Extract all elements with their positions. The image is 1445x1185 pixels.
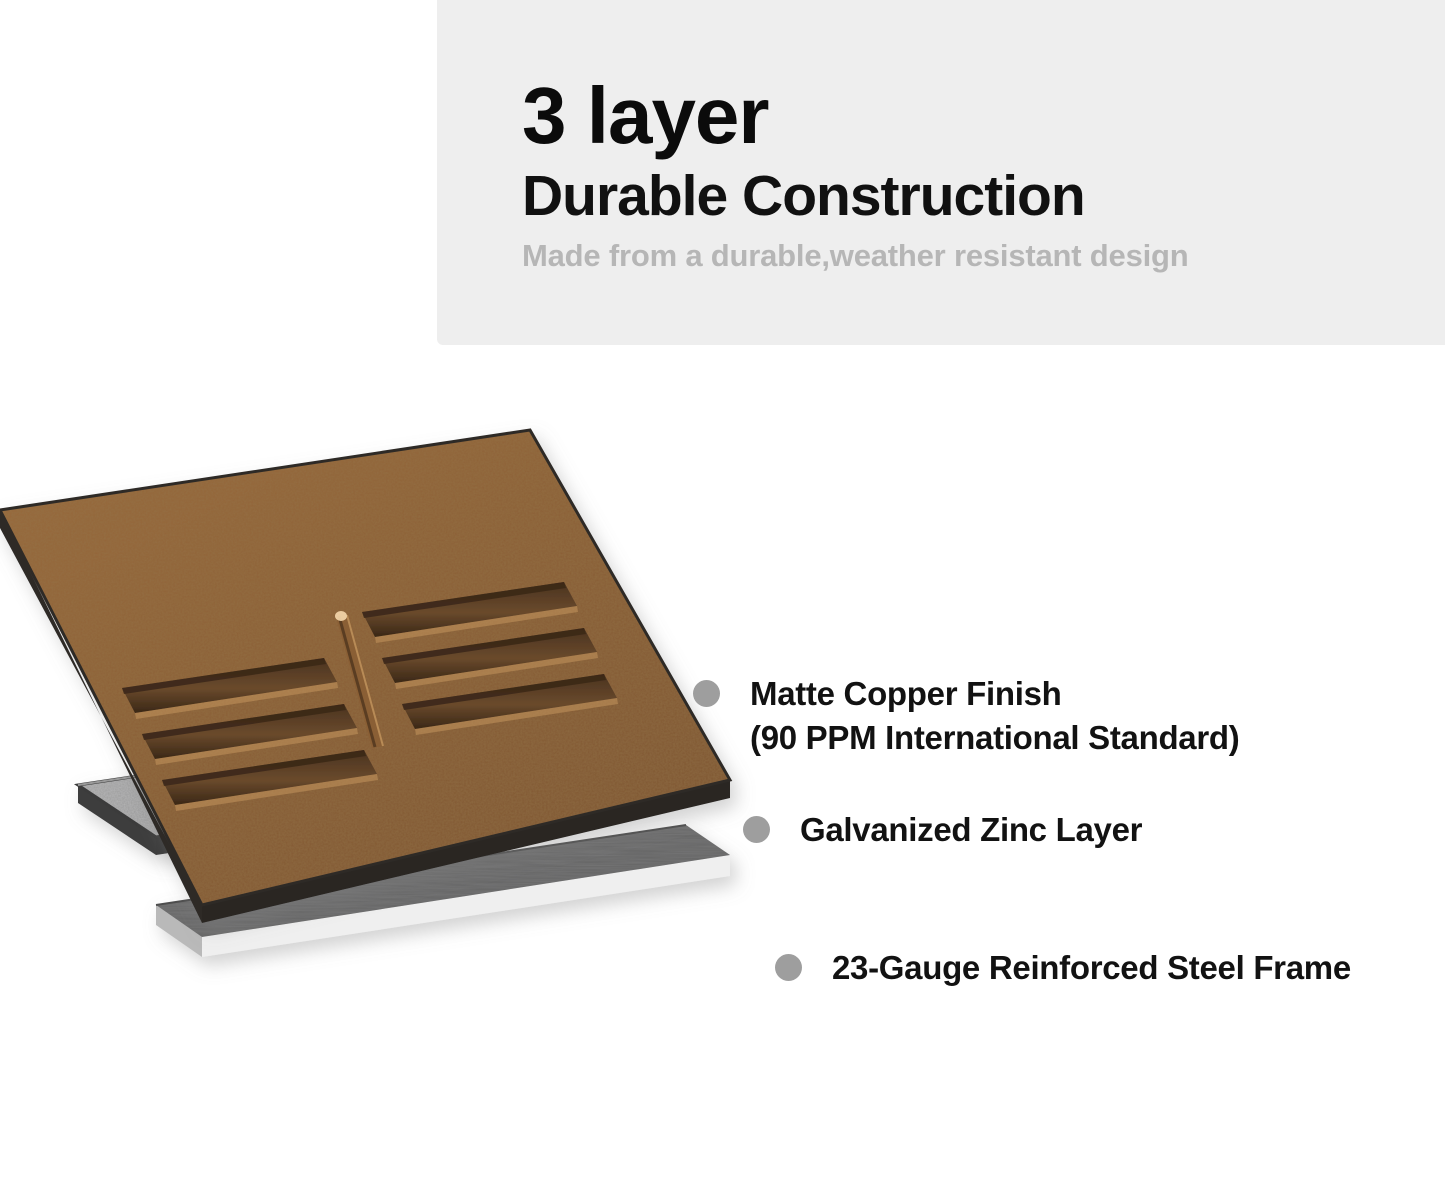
bullet-dot-icon [693,680,720,707]
header-panel: 3 layer Durable Construction Made from a… [437,0,1445,345]
layer-stack-svg [0,400,790,1180]
exploded-layer-illustration [0,400,790,1180]
bullet-dot-icon [775,954,802,981]
page-subtitle: Durable Construction [437,168,1317,225]
callout-copper: Matte Copper Finish (90 PPM Internationa… [693,672,1239,760]
page-title: 3 layer [437,78,1317,154]
callout-label: Galvanized Zinc Layer [800,808,1142,852]
bullet-dot-icon [743,816,770,843]
page-tagline: Made from a durable,weather resistant de… [437,239,1317,273]
callout-steel: 23-Gauge Reinforced Steel Frame [775,946,1351,990]
callout-zinc: Galvanized Zinc Layer [743,808,1142,852]
callout-label: Matte Copper Finish (90 PPM Internationa… [750,672,1239,760]
callout-label: 23-Gauge Reinforced Steel Frame [832,946,1351,990]
